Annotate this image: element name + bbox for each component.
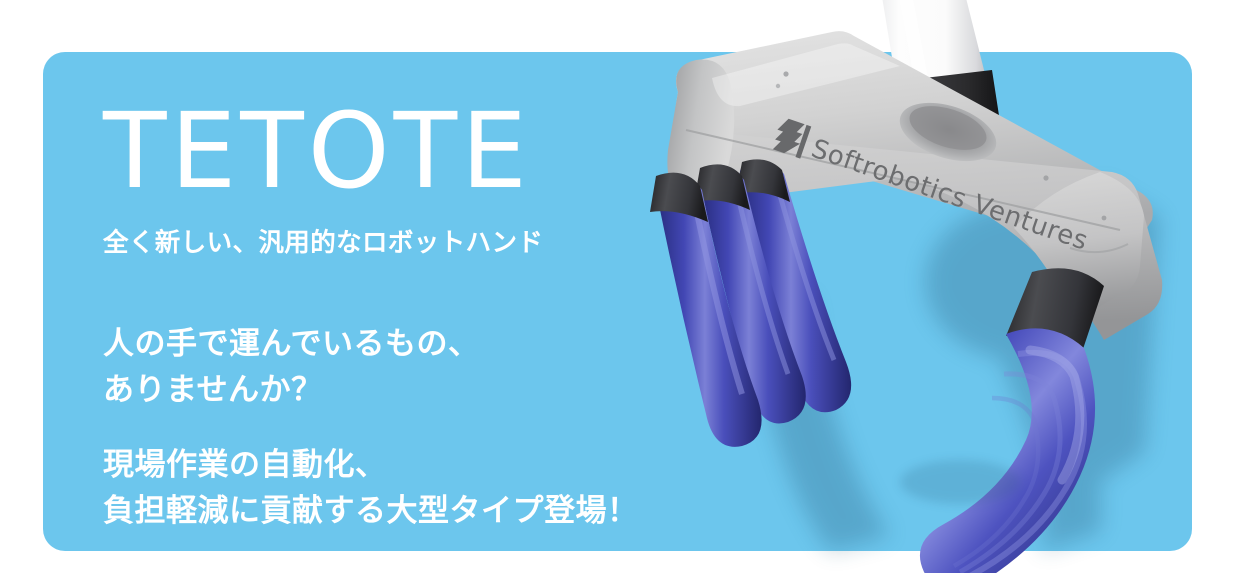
robot-gripper-image: Softrobotics Ventures xyxy=(600,0,1233,573)
soft-finger-group-three xyxy=(650,159,851,446)
hero-banner: TETOTE 全く新しい、汎用的なロボットハンド 人の手で運んでいるもの、 あり… xyxy=(0,0,1233,573)
thumb-tip-shadow xyxy=(900,460,1020,504)
